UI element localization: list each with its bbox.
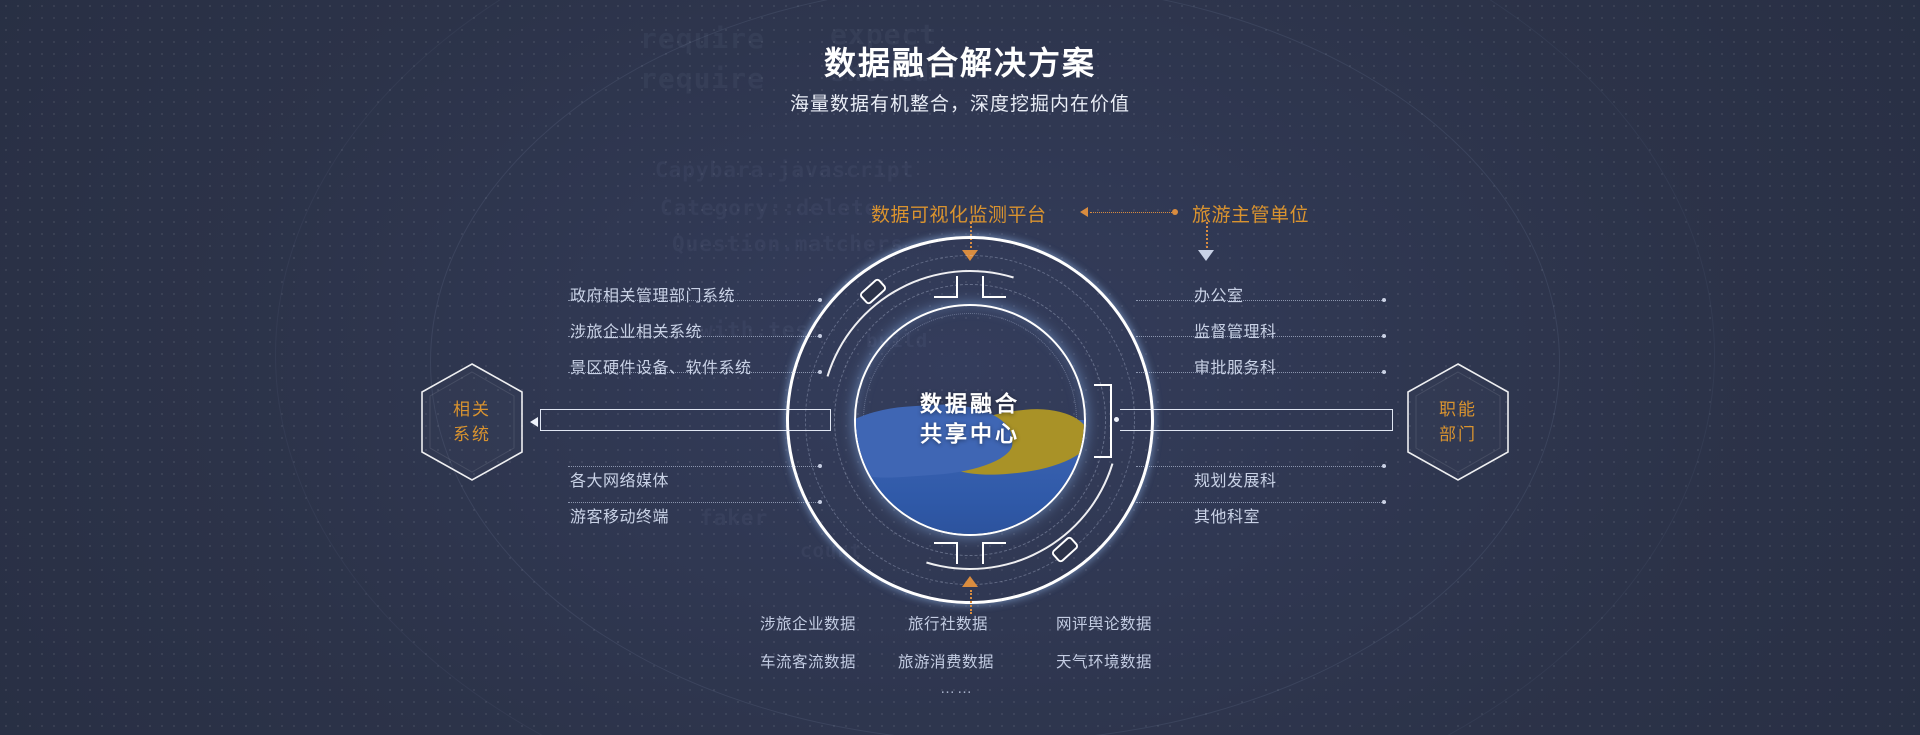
authority-dotted-leader <box>1206 222 1208 248</box>
core-label: 数据融合 共享中心 <box>855 390 1085 451</box>
page-title: 数据融合解决方案 <box>0 38 1920 84</box>
hexagon-right-label: 职能 部门 <box>1439 397 1477 448</box>
left-label-item: 涉旅企业相关系统 <box>570 318 702 342</box>
bracket-tick <box>984 296 1006 298</box>
hexagon-right-line1: 职能 <box>1439 397 1477 423</box>
label-visualization-platform: 数据可视化监测平台 <box>871 200 1047 227</box>
hexagon-right-line2: 部门 <box>1439 422 1477 448</box>
bottom-label-item: 旅行社数据 <box>908 612 988 634</box>
hexagon-functional-departments[interactable]: 职能 部门 <box>1404 360 1512 484</box>
right-rail-node-dot <box>1114 417 1119 422</box>
right-feeder-dot <box>1382 370 1386 374</box>
left-label-item: 景区硬件设备、软件系统 <box>570 354 752 378</box>
left-rail-arrow-icon <box>530 417 538 427</box>
right-feeder-line <box>1136 300 1386 301</box>
hexagon-left-line1: 相关 <box>453 397 491 423</box>
right-feeder-line <box>1136 502 1386 503</box>
right-label-item: 规划发展科 <box>1194 467 1277 491</box>
right-label-item: 审批服务科 <box>1194 354 1277 378</box>
top-flow-endpoint-dot <box>1172 209 1178 215</box>
core-label-line1: 数据融合 <box>855 390 1085 420</box>
top-flow-connector <box>1090 212 1172 213</box>
left-rail-line-lower <box>540 430 830 431</box>
right-rail-cap <box>1392 409 1393 431</box>
right-feeder-dot <box>1382 500 1386 504</box>
bracket-tick <box>956 276 958 298</box>
right-rail-line-lower <box>1120 430 1392 431</box>
bottom-label-item: 旅游消费数据 <box>898 650 994 672</box>
bottom-label-item: 车流客流数据 <box>760 650 856 672</box>
bracket-tick <box>934 542 956 544</box>
left-feeder-dot <box>818 298 822 302</box>
right-label-item: 其他科室 <box>1194 503 1260 527</box>
left-rail-cap <box>540 409 541 431</box>
bottom-label-item: 网评舆论数据 <box>1056 612 1152 634</box>
left-label-item: 各大网络媒体 <box>570 467 669 491</box>
hexagon-left-label: 相关 系统 <box>453 397 491 448</box>
hexagon-related-systems[interactable]: 相关 系统 <box>418 360 526 484</box>
left-rail-line-upper <box>540 409 830 410</box>
hexagon-left-line2: 系统 <box>453 422 491 448</box>
left-label-item: 游客移动终端 <box>570 503 669 527</box>
bracket-tick <box>982 542 984 564</box>
bottom-label-more: …… <box>940 680 974 697</box>
left-arrow-icon <box>1080 207 1088 217</box>
label-tourism-authority: 旅游主管单位 <box>1192 200 1309 227</box>
bottom-label-item: 天气环境数据 <box>1056 650 1152 672</box>
bracket-tick <box>1110 384 1112 458</box>
page-subtitle: 海量数据有机整合，深度挖掘内在价值 <box>0 89 1920 116</box>
right-feeder-dot <box>1382 298 1386 302</box>
bracket-tick <box>984 542 1006 544</box>
bracket-tick <box>982 276 984 298</box>
bottom-label-item: 涉旅企业数据 <box>760 612 856 634</box>
right-feeder-dot <box>1382 464 1386 468</box>
infographic-canvas: require expect require should Capybara.j… <box>0 0 1920 735</box>
left-rail-cap <box>830 409 831 431</box>
right-label-item: 监督管理科 <box>1194 318 1277 342</box>
bracket-tick <box>956 542 958 564</box>
left-feeder-dot <box>818 370 822 374</box>
bracket-tick <box>1094 456 1112 458</box>
bottom-dotted-leader <box>970 590 972 614</box>
left-feeder-dot <box>818 464 822 468</box>
core-label-line2: 共享中心 <box>855 420 1085 450</box>
up-triangle-marker-icon <box>962 576 978 587</box>
bracket-tick <box>934 296 956 298</box>
left-feeder-dot <box>818 334 822 338</box>
right-feeder-dot <box>1382 334 1386 338</box>
right-label-item: 办公室 <box>1194 282 1244 306</box>
left-feeder-dot <box>818 500 822 504</box>
left-label-item: 政府相关管理部门系统 <box>570 282 735 306</box>
right-rail-line-upper <box>1120 409 1392 410</box>
down-triangle-marker-icon <box>1198 250 1214 261</box>
